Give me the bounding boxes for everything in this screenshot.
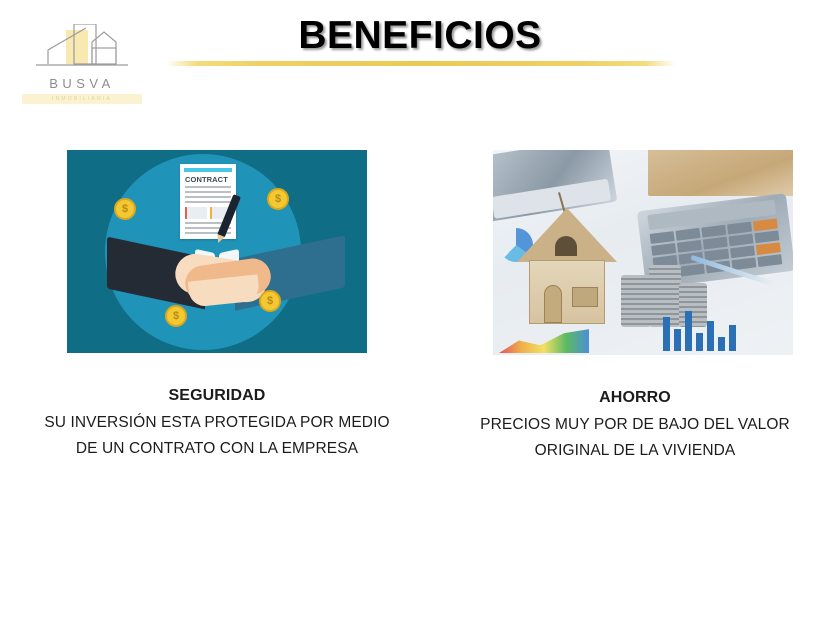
- benefit-heading: SEGURIDAD: [42, 383, 392, 409]
- house-savings-photo: [493, 150, 793, 355]
- dollar-coin-icon: $: [259, 290, 281, 312]
- wooden-desk-panel: [648, 150, 793, 196]
- page-title: BENEFICIOS: [0, 14, 840, 58]
- logo-wordmark: BUSVA: [22, 76, 142, 91]
- rainbow-area-chart: [499, 327, 589, 353]
- title-underline-rule: [166, 61, 676, 66]
- document-title: CONTRACT: [185, 175, 233, 184]
- dollar-coin-icon: $: [114, 198, 136, 220]
- benefit-card-ahorro: AHORRO PRECIOS MUY POR DE BAJO DEL VALOR…: [460, 150, 810, 464]
- dollar-coin-icon: $: [165, 305, 187, 327]
- benefit-heading: AHORRO: [460, 385, 810, 411]
- document-header-bar: [184, 168, 232, 172]
- house-attic-window: [555, 236, 577, 256]
- benefit-body: SU INVERSIÓN ESTA PROTEGIDA POR MEDIO DE…: [42, 410, 392, 462]
- photo-backdrop: [493, 150, 793, 355]
- benefit-caption: SEGURIDAD SU INVERSIÓN ESTA PROTEGIDA PO…: [42, 383, 392, 462]
- logo-tagline: INMOBILIARIA: [22, 94, 142, 104]
- financial-charts-paper: [493, 299, 793, 355]
- handshake-contract-illustration: CONTRACT $ $ $ $: [67, 150, 367, 353]
- benefit-caption: AHORRO PRECIOS MUY POR DE BAJO DEL VALOR…: [460, 385, 810, 464]
- dollar-coin-icon: $: [267, 188, 289, 210]
- benefit-body: PRECIOS MUY POR DE BAJO DEL VALOR ORIGIN…: [460, 412, 810, 464]
- illustration-backdrop: CONTRACT $ $ $ $: [67, 150, 367, 353]
- benefit-card-seguridad: CONTRACT $ $ $ $: [42, 150, 392, 462]
